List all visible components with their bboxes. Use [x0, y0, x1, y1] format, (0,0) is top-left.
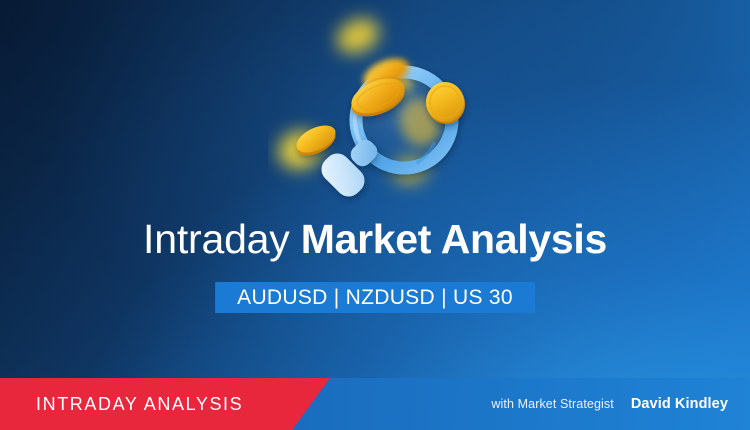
- title-space: [290, 216, 301, 262]
- footer-presenter-group: with Market Strategist David Kindley: [491, 378, 728, 430]
- footer-category-label: INTRADAY ANALYSIS: [36, 378, 243, 430]
- coin-blurred-top: [331, 12, 385, 60]
- presenter-name: David Kindley: [631, 396, 728, 412]
- page-title: Intraday Market Analysis: [0, 216, 750, 263]
- title-bold-part: Market Analysis: [301, 216, 607, 262]
- title-light-part: Intraday: [143, 216, 290, 262]
- instrument-pairs-badge: AUDUSD | NZDUSD | US 30: [215, 282, 535, 313]
- footer-bar: INTRADAY ANALYSIS with Market Strategist…: [0, 378, 750, 430]
- hero-illustration: [268, 2, 500, 207]
- intraday-analysis-banner: Intraday Market Analysis AUDUSD | NZDUSD…: [0, 0, 750, 430]
- presenter-role-label: with Market Strategist: [491, 397, 613, 411]
